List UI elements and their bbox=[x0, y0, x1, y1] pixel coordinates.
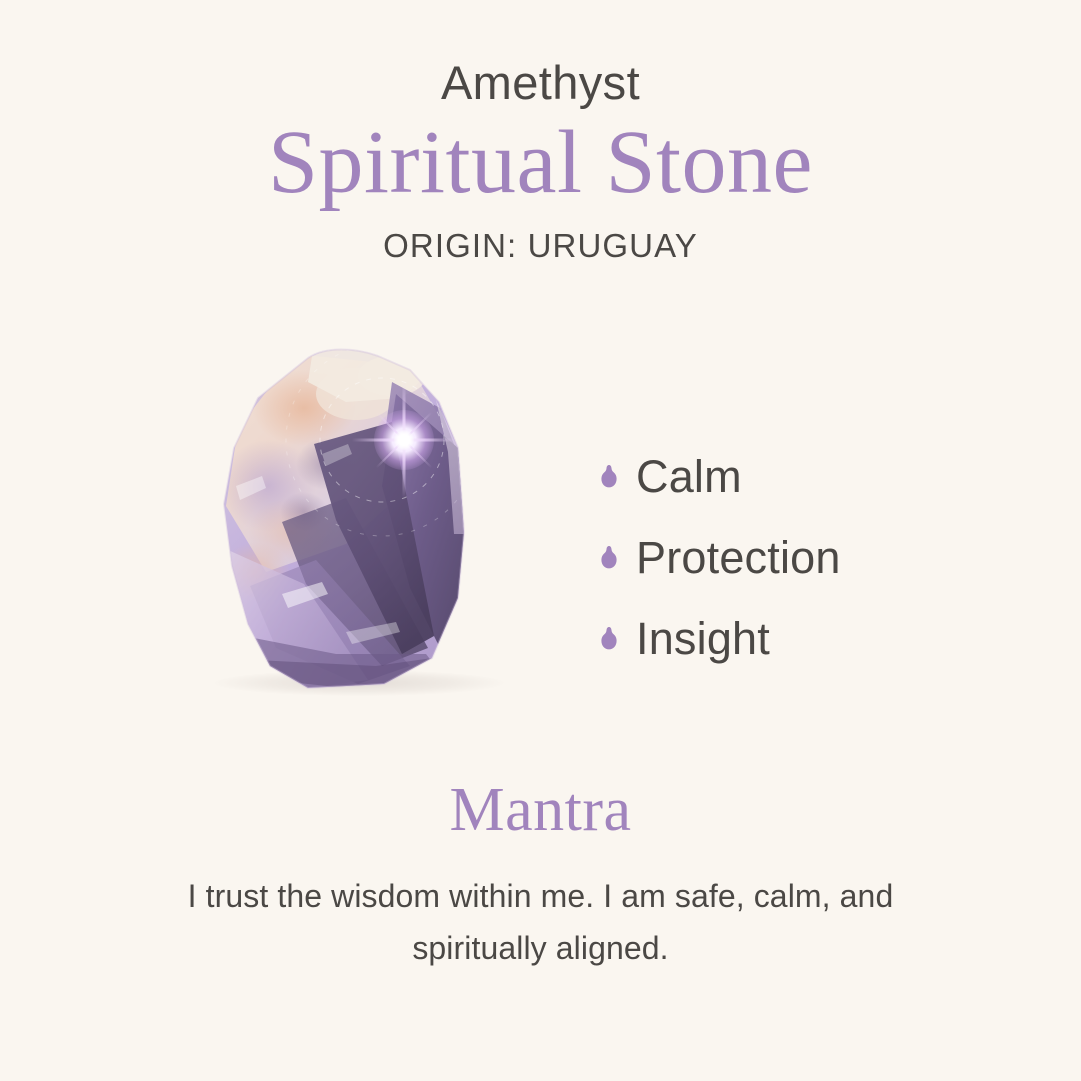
property-label: Protection bbox=[636, 535, 841, 580]
mantra-text: I trust the wisdom within me. I am safe,… bbox=[181, 845, 901, 975]
crystal-svg bbox=[196, 336, 526, 726]
list-item: Protection bbox=[600, 517, 1020, 598]
gem-bullet-icon bbox=[600, 464, 618, 490]
list-item: Insight bbox=[600, 598, 1020, 679]
stone-origin: ORIGIN: URUGUAY bbox=[0, 214, 1081, 264]
property-label: Insight bbox=[636, 616, 770, 661]
amethyst-crystal-illustration bbox=[196, 336, 526, 726]
page-title: Spiritual Stone bbox=[0, 107, 1081, 214]
mantra-section: Mantra I trust the wisdom within me. I a… bbox=[0, 776, 1081, 975]
gem-bullet-icon bbox=[600, 545, 618, 571]
gem-bullet-icon bbox=[600, 626, 618, 652]
amethyst-crystal-card: Amethyst Spiritual Stone ORIGIN: URUGUAY bbox=[0, 0, 1081, 1081]
mantra-heading: Mantra bbox=[0, 776, 1081, 845]
stone-name: Amethyst bbox=[0, 0, 1081, 107]
illustration-and-properties: Calm Protection Insight bbox=[0, 336, 1081, 736]
properties-list: Calm Protection Insight bbox=[600, 436, 1020, 679]
card-header: Amethyst Spiritual Stone ORIGIN: URUGUAY bbox=[0, 0, 1081, 264]
list-item: Calm bbox=[600, 436, 1020, 517]
property-label: Calm bbox=[636, 454, 742, 499]
